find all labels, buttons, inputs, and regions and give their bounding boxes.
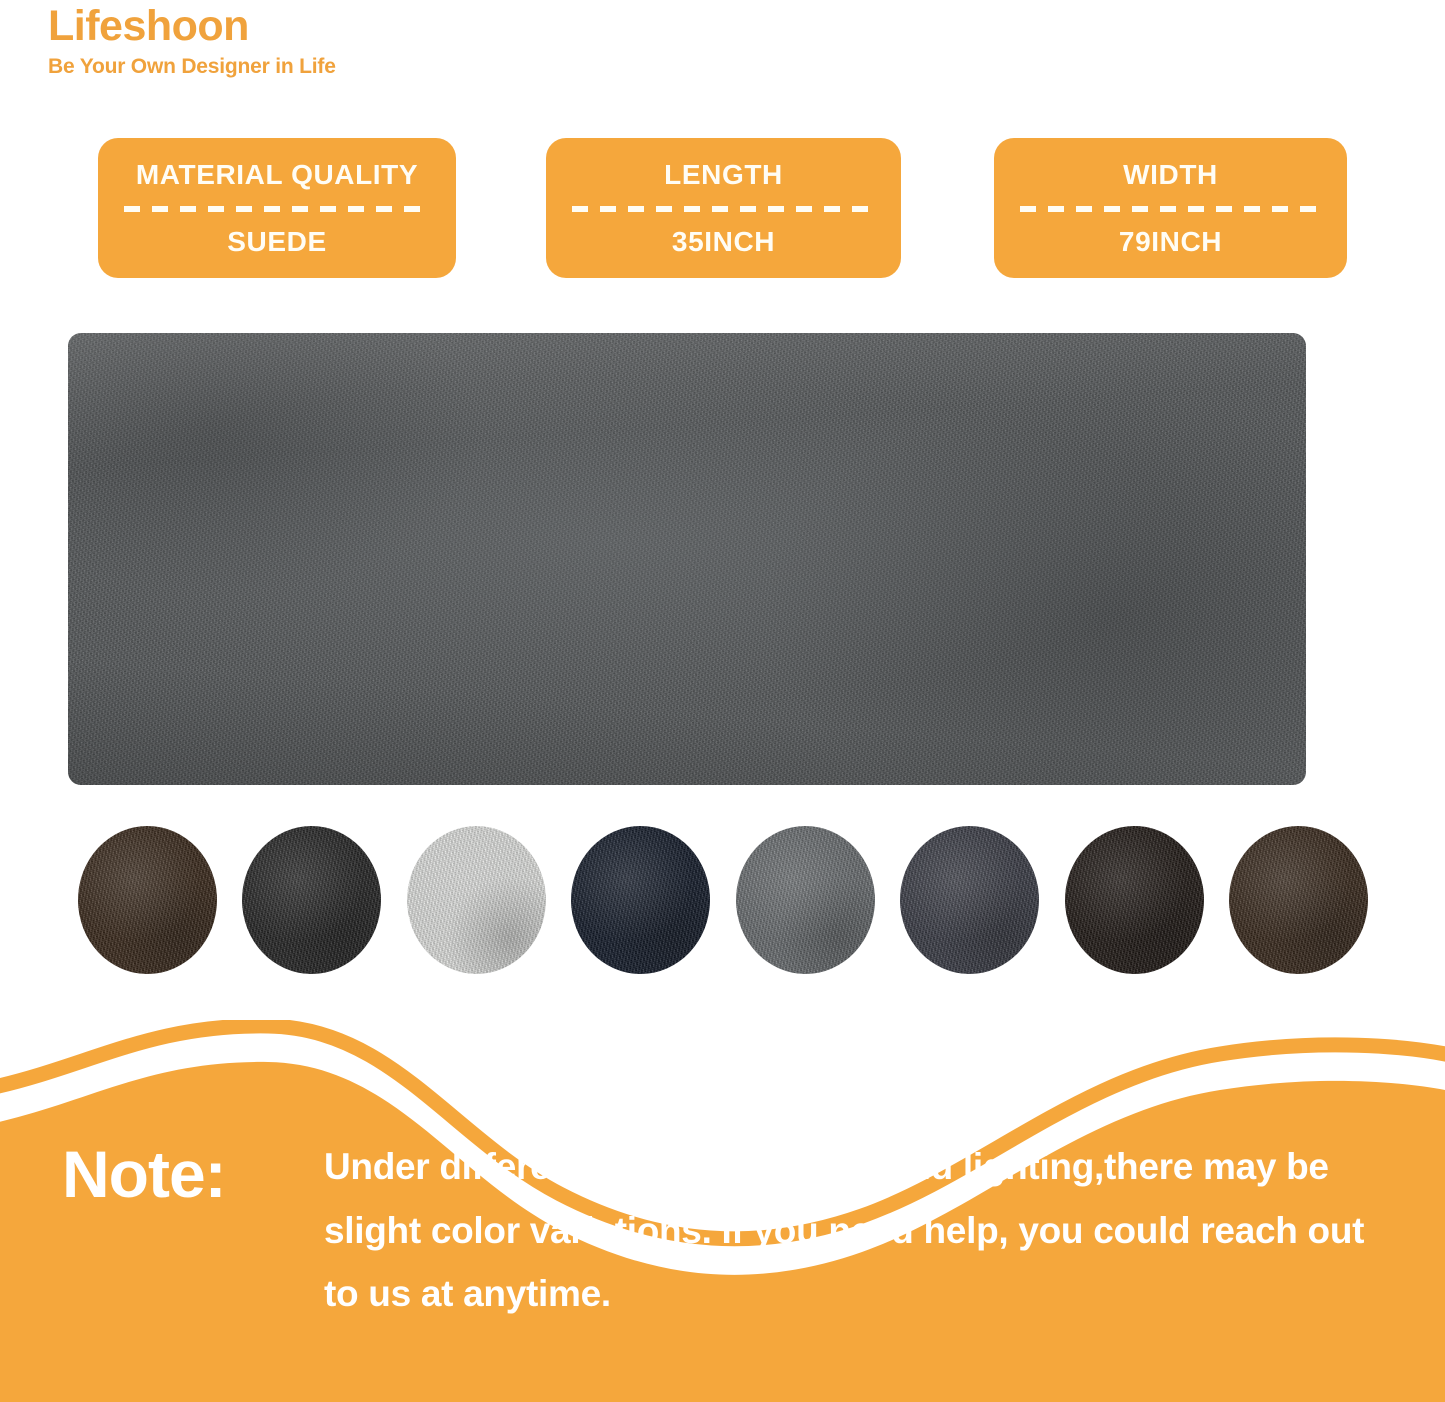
note-text: Under different screen monitors and ligh… [324,1135,1395,1326]
swatch-texture [900,826,1039,974]
swatch-texture [571,826,710,974]
spec-badge-value: 35INCH [672,228,775,256]
spec-badge-length: LENGTH 35INCH [546,138,901,278]
spec-badge-title: MATERIAL QUALITY [136,161,418,189]
brand-tagline: Be Your Own Designer in Life [48,55,336,79]
spec-badge-material-quality: MATERIAL QUALITY SUEDE [98,138,456,278]
brand-header: Lifeshoon Be Your Own Designer in Life [48,4,336,79]
dashed-divider [124,206,430,212]
spec-badge-width: WIDTH 79INCH [994,138,1347,278]
color-swatch[interactable] [571,826,710,974]
spec-badge-title: LENGTH [664,161,783,189]
swatch-texture [736,826,875,974]
spec-badge-value: 79INCH [1119,228,1222,256]
dashed-divider [572,206,875,212]
color-swatch[interactable] [1065,826,1204,974]
note-label: Note: [62,1141,226,1207]
swatch-texture [407,826,546,974]
spec-badge-row: MATERIAL QUALITY SUEDE LENGTH 35INCH WID… [98,138,1348,278]
color-swatch[interactable] [1229,826,1368,974]
color-swatch-row [78,824,1368,976]
color-swatch[interactable] [78,826,217,974]
swatch-texture [242,826,381,974]
swatch-texture [78,826,217,974]
spec-badge-value: SUEDE [227,228,326,256]
swatch-texture [1065,826,1204,974]
product-image-rug [68,333,1306,785]
note-section: Note: Under different screen monitors an… [0,1135,1445,1326]
rug-sheen-overlay [68,333,1306,785]
spec-badge-title: WIDTH [1123,161,1218,189]
brand-name: Lifeshoon [48,4,336,49]
color-swatch[interactable] [242,826,381,974]
color-swatch[interactable] [736,826,875,974]
dashed-divider [1020,206,1321,212]
product-infographic: Lifeshoon Be Your Own Designer in Life M… [0,0,1445,1402]
color-swatch[interactable] [900,826,1039,974]
swatch-texture [1229,826,1368,974]
color-swatch[interactable] [407,826,546,974]
